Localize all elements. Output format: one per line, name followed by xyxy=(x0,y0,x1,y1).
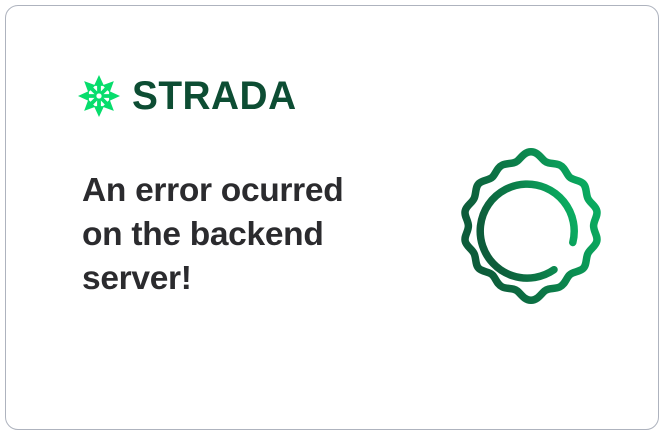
strada-starburst-icon xyxy=(78,75,120,117)
brand-logo: STRADA xyxy=(78,71,302,121)
brand-wordmark: STRADA xyxy=(132,76,297,116)
gear-icon xyxy=(449,146,613,310)
error-card: STRADA An error ocurred on the backend s… xyxy=(5,5,659,430)
error-headline: An error ocurred on the backend server! xyxy=(82,169,382,301)
